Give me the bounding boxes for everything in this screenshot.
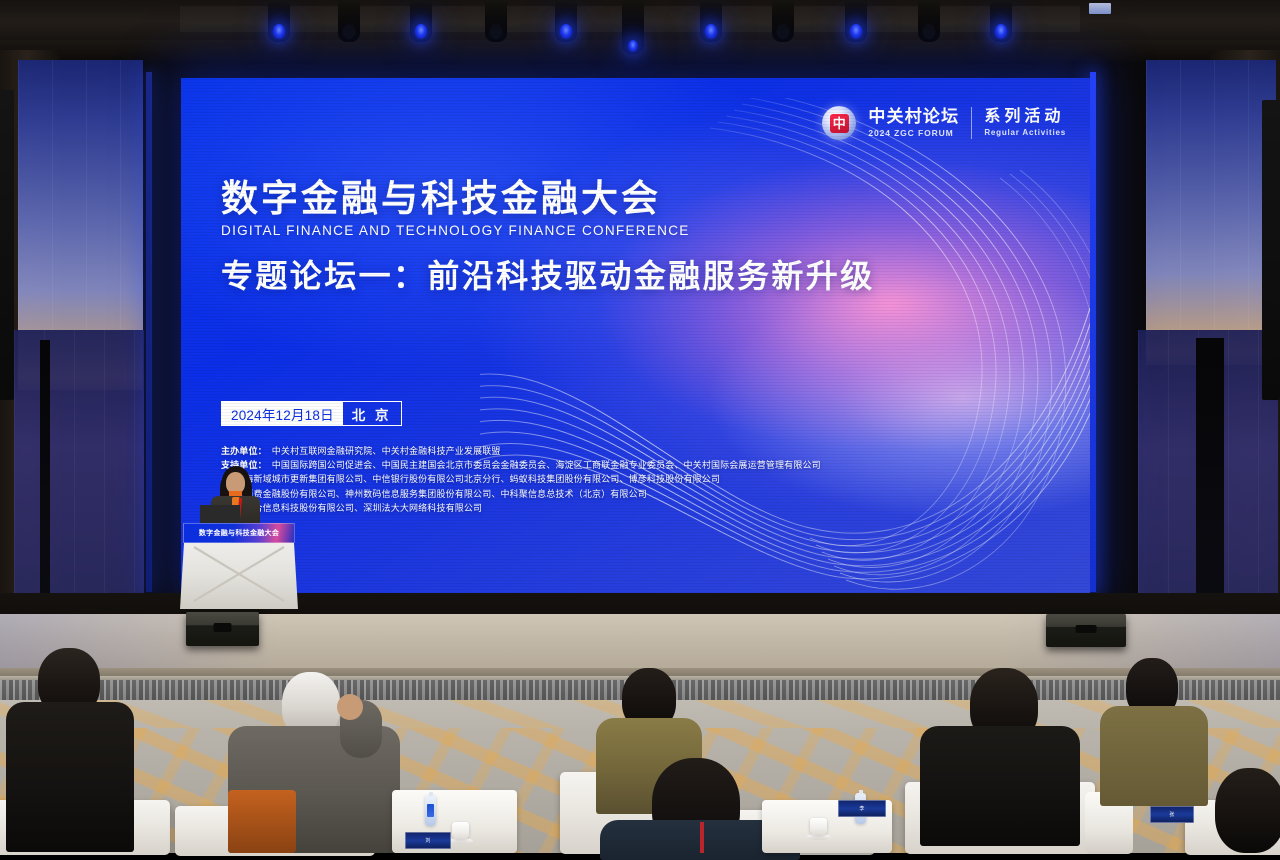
conference-title-cn: 数字金融与科技金融大会 [221, 178, 875, 219]
audience-bag-2 [228, 790, 296, 853]
logo-divider [971, 107, 972, 139]
right-blue-accent-strip [1090, 72, 1096, 592]
zgc-forum-logo-lockup: 中 中关村论坛 2024 ZGC FORUM 系列活动 Regular Acti… [822, 106, 1066, 140]
stage-light-8 [772, 0, 794, 42]
left-wall-panel-lower [14, 330, 144, 620]
podium-x-frame [190, 545, 288, 603]
audience-hand-2 [337, 694, 363, 720]
conference-hall-scene: 中 中关村论坛 2024 ZGC FORUM 系列活动 Regular Acti… [0, 0, 1280, 853]
sponsor-text: 中国国际跨国公司促进会、中国民主建国会北京市委员会金融委员会、海淀区工商联金融专… [272, 460, 821, 470]
headline-block: 数字金融与科技金融大会 DIGITAL FINANCE AND TECHNOLO… [221, 178, 875, 295]
event-city: 北 京 [343, 402, 401, 425]
water-bottle-1 [425, 795, 436, 826]
stage-light-1 [268, 0, 290, 42]
sponsor-line: 马上消费金融股份有限公司、神州数码信息服务集团股份有限公司、中科聚信息总技术（北… [221, 487, 911, 501]
event-date: 2024年12月18日 [222, 402, 343, 425]
series-name-en: Regular Activities [984, 128, 1066, 137]
stage-light-5 [555, 0, 577, 42]
tea-cup-2 [810, 818, 827, 835]
name-card-3: 张 [1150, 806, 1194, 823]
date-location-badge: 2024年12月18日 北 京 [221, 401, 402, 426]
stage-light-3 [410, 0, 432, 42]
brand-name-en: 2024 ZGC FORUM [868, 128, 959, 138]
led-stage-screen: 中 中关村论坛 2024 ZGC FORUM 系列活动 Regular Acti… [181, 78, 1090, 593]
sponsor-line: 北京海新域城市更新集团有限公司、中信银行股份有限公司北京分行、蚂蚁科技集团股份有… [221, 472, 911, 486]
sponsor-credits-block: 主办单位：中关村互联网金融研究院、中关村金融科技产业发展联盟 支持单位：中国国际… [221, 444, 911, 515]
tea-cup-1 [452, 822, 469, 839]
left-door-gap [40, 340, 50, 610]
stage-light-10 [918, 0, 940, 42]
stage-light-7 [700, 0, 722, 42]
stage-light-6 [622, 0, 644, 54]
audience-body-1 [6, 702, 134, 852]
stage-light-11 [990, 0, 1012, 42]
left-line-array-speaker [0, 90, 14, 400]
sponsor-label: 主办单位： [221, 446, 267, 456]
conference-title-en: DIGITAL FINANCE AND TECHNOLOGY FINANCE C… [221, 223, 875, 238]
name-card-2: 李 [838, 800, 886, 817]
stage-light-9 [845, 0, 867, 42]
series-name-cn: 系列活动 [984, 109, 1066, 126]
sponsor-line: 主办单位：中关村互联网金融研究院、中关村金融科技产业发展联盟 [221, 444, 911, 458]
badge-glyph: 中 [830, 114, 849, 133]
audience-body-5 [920, 726, 1080, 846]
exit-sign-light [1089, 3, 1111, 14]
forum-subtitle-cn: 专题论坛一：前沿科技驱动金融服务新升级 [221, 258, 875, 295]
stage-light-2 [338, 0, 360, 42]
brand-name-cn: 中关村论坛 [868, 108, 959, 126]
right-door-gap [1196, 338, 1224, 618]
podium-banner: 数字金融与科技金融大会 [183, 523, 295, 543]
name-card-1: 刘 [405, 832, 451, 849]
audience-lanyard-4 [700, 822, 704, 853]
series-text-block: 系列活动 Regular Activities [984, 109, 1066, 137]
right-wall-panel-upper [1146, 60, 1276, 365]
sponsor-text: 中关村互联网金融研究院、中关村金融科技产业发展联盟 [272, 446, 501, 456]
stage-light-4 [485, 0, 507, 42]
sponsor-line: 上海合合信息科技股份有限公司、深圳法大大网络科技有限公司 [221, 501, 911, 515]
left-blue-accent-strip [146, 72, 152, 592]
audience-body-7 [1100, 706, 1208, 806]
right-line-array-speaker [1262, 100, 1280, 400]
sponsor-text: 北京海新域城市更新集团有限公司、中信银行股份有限公司北京分行、蚂蚁科技集团股份有… [226, 474, 720, 484]
stage-monitor-right [1046, 614, 1126, 647]
brand-text-block: 中关村论坛 2024 ZGC FORUM [868, 108, 959, 138]
sponsor-line: 支持单位：中国国际跨国公司促进会、中国民主建国会北京市委员会金融委员会、海淀区工… [221, 458, 911, 472]
audience-head-6 [1215, 768, 1280, 853]
forum-badge-icon: 中 [822, 106, 856, 140]
decorative-wave-graphic [480, 98, 1090, 593]
podium-banner-text: 数字金融与科技金融大会 [184, 524, 294, 543]
